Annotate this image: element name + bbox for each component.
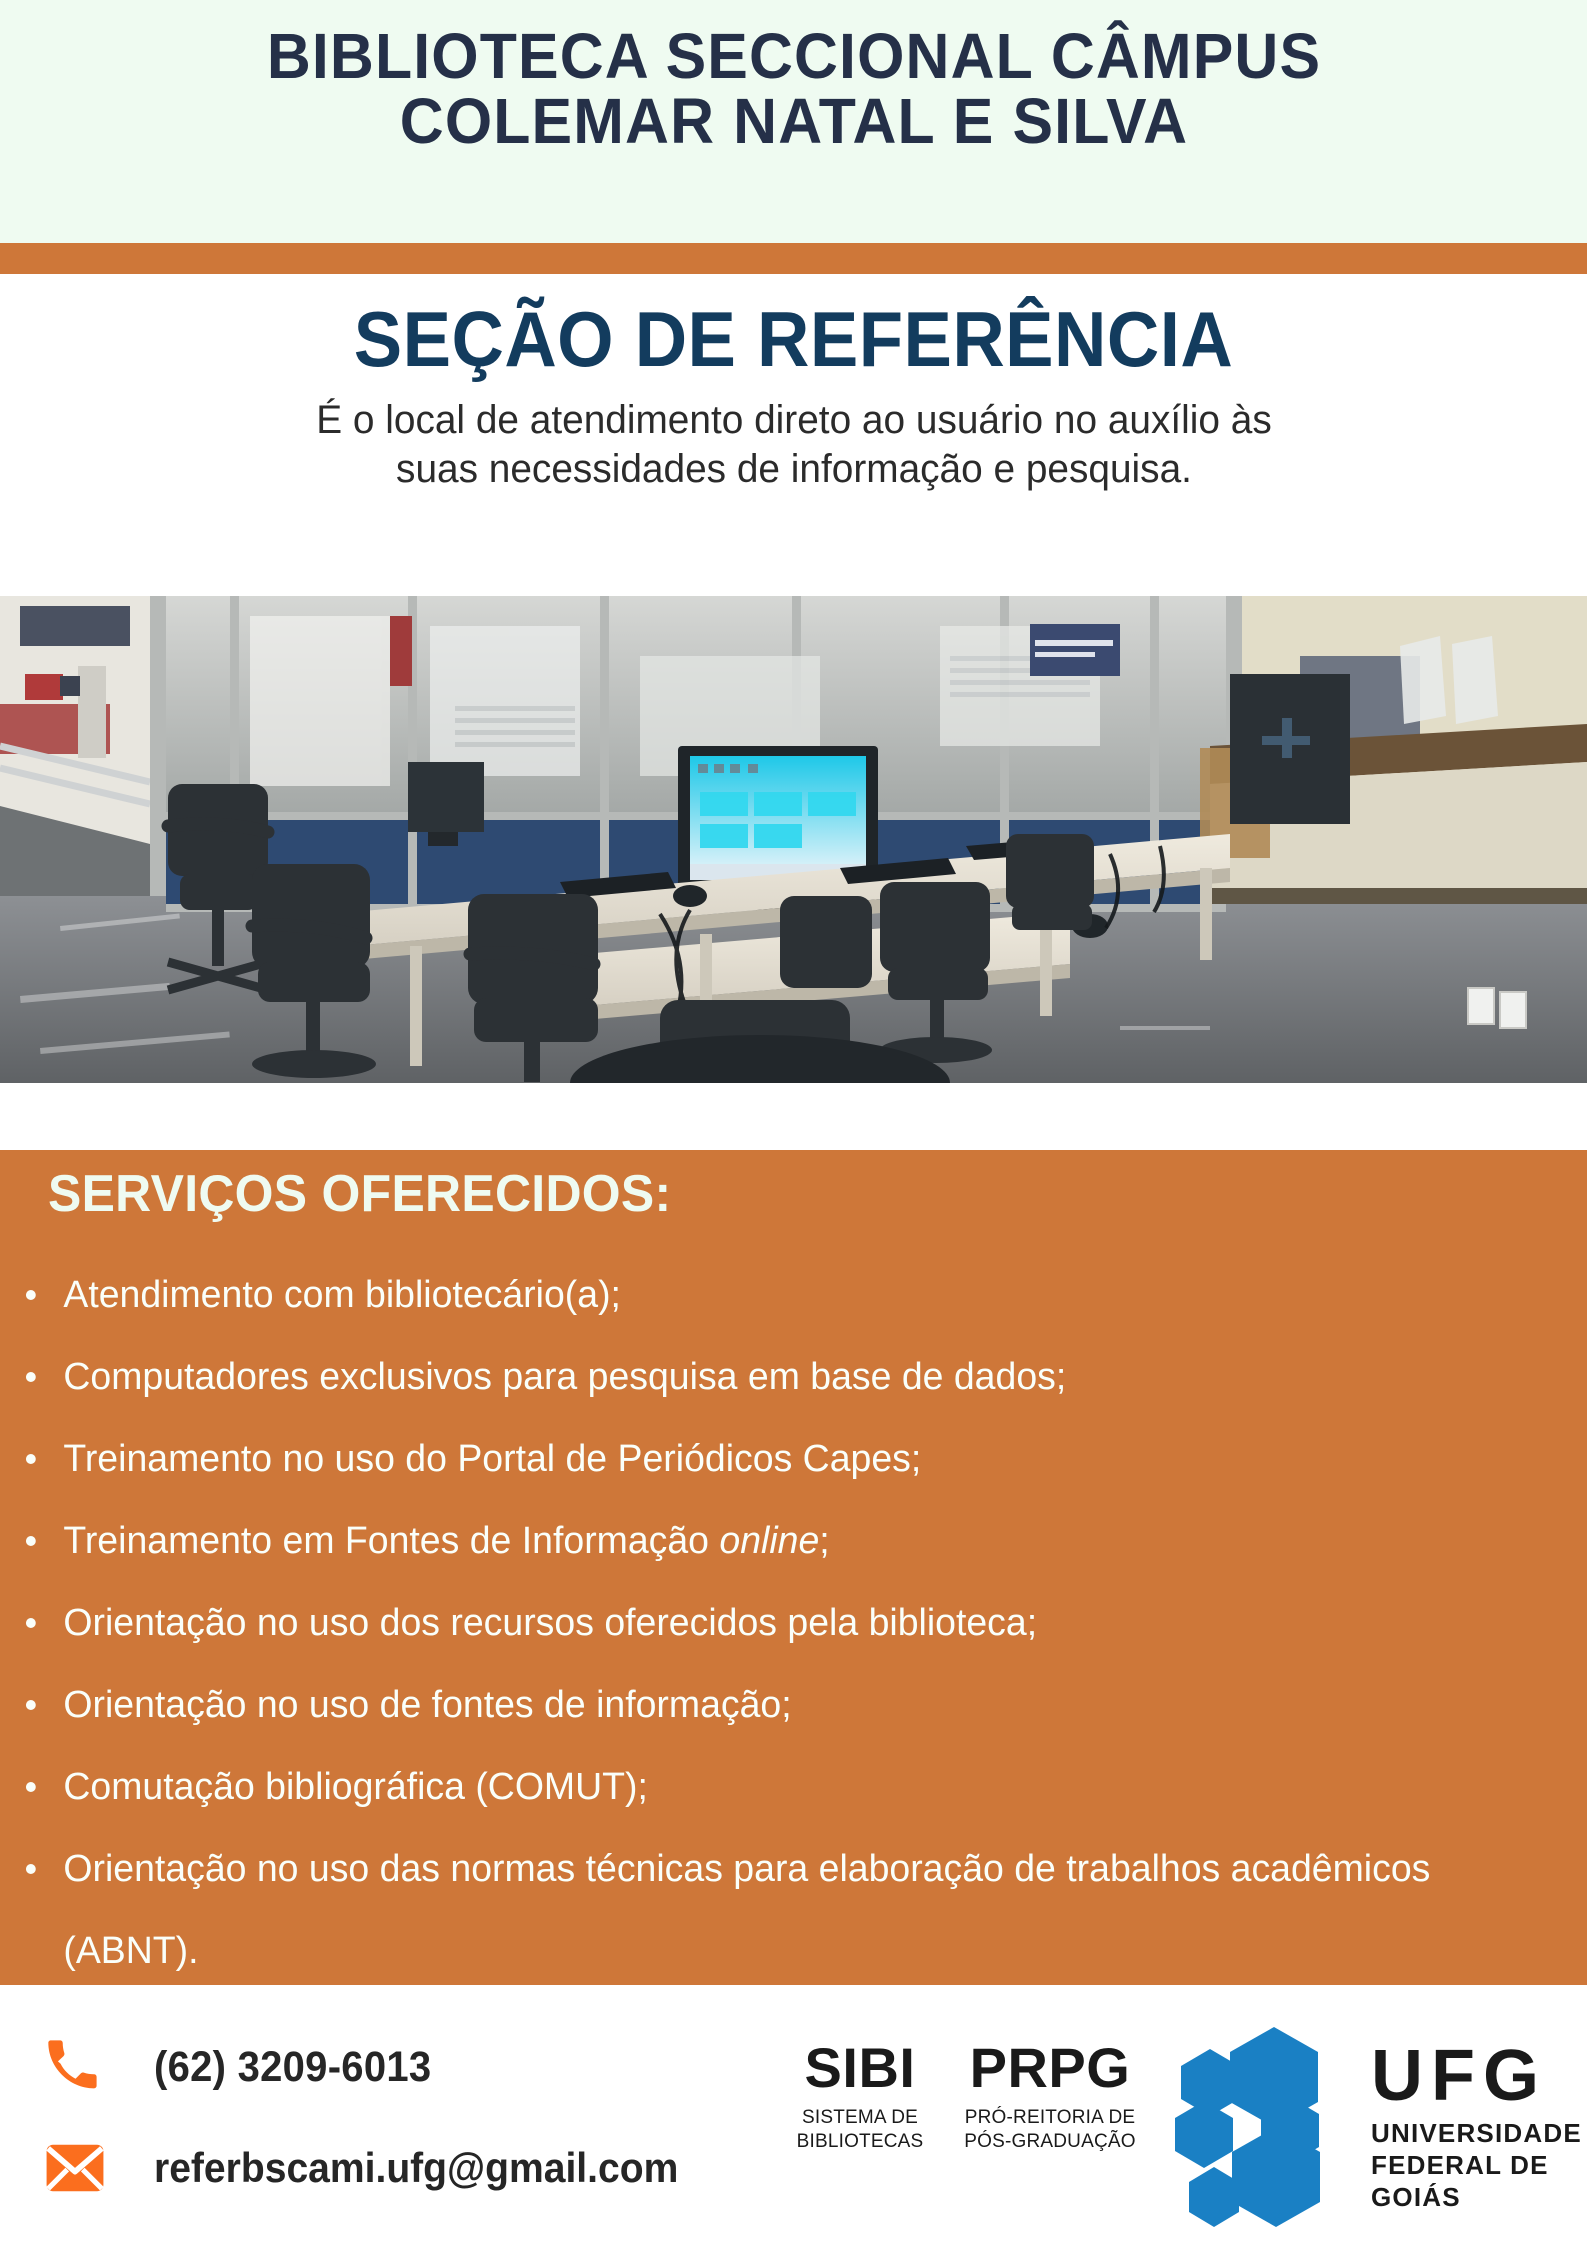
bullet-icon xyxy=(26,1864,36,1874)
list-item: Orientação no uso das normas técnicas pa… xyxy=(22,1828,1544,1992)
logo-sibi: SIBI SISTEMA DE BIBLIOTECAS xyxy=(775,2040,945,2154)
logo-ufg-wordmark: UFG UNIVERSIDADE FEDERAL DE GOIÁS xyxy=(1371,2042,1582,2214)
bullet-icon xyxy=(26,1454,36,1464)
services-heading: SERVIÇOS OFERECIDOS: xyxy=(48,1164,671,1224)
services-list: Atendimento com bibliotecário(a); Comput… xyxy=(22,1254,1567,1992)
bullet-icon xyxy=(26,1618,36,1628)
phone-icon xyxy=(38,2027,112,2107)
list-item-emphasis: online xyxy=(719,1520,819,1562)
list-item-label: Atendimento com bibliotecário(a); xyxy=(63,1274,621,1316)
list-item-label: Comutação bibliográfica (COMUT); xyxy=(63,1766,648,1808)
list-item-label: Treinamento em Fontes de Informação xyxy=(63,1520,719,1562)
logo-prpg-mark: PRPG xyxy=(940,2040,1160,2096)
list-item-tail: ; xyxy=(819,1520,829,1562)
phone-number: (62) 3209-6013 xyxy=(154,2043,431,2092)
logo-ufg-mark: UFG xyxy=(1371,2042,1582,2110)
list-item-label: Computadores exclusivos para pesquisa em… xyxy=(63,1356,1066,1398)
list-item-label: Orientação no uso das normas técnicas pa… xyxy=(63,1848,1430,1972)
list-item: Orientação no uso dos recursos oferecido… xyxy=(22,1582,1544,1664)
section-intro: SEÇÃO DE REFERÊNCIA É o local de atendim… xyxy=(0,274,1587,596)
poster-header: BIBLIOTECA SECCIONAL CÂMPUS COLEMAR NATA… xyxy=(0,0,1587,243)
services-section: SERVIÇOS OFERECIDOS: Atendimento com bib… xyxy=(0,1150,1587,1985)
accent-divider-top xyxy=(0,243,1587,274)
bullet-icon xyxy=(26,1372,36,1382)
logo-sibi-subtitle: SISTEMA DE BIBLIOTECAS xyxy=(775,2106,945,2154)
list-item-label: Orientação no uso de fontes de informaçã… xyxy=(63,1684,791,1726)
list-item: Treinamento em Fontes de Informação onli… xyxy=(22,1500,1544,1582)
logo-prpg-subtitle: PRÓ-REITORIA DE PÓS-GRADUAÇÃO xyxy=(940,2106,1160,2154)
bullet-icon xyxy=(26,1290,36,1300)
logo-ufg: UFG UNIVERSIDADE FEDERAL DE GOIÁS xyxy=(1170,2020,1570,2235)
logo-sibi-mark: SIBI xyxy=(775,2040,945,2096)
hexagon-cluster-icon xyxy=(1170,2025,1355,2230)
bullet-icon xyxy=(26,1782,36,1792)
list-item: Comutação bibliográfica (COMUT); xyxy=(22,1746,1544,1828)
list-item: Orientação no uso de fontes de informaçã… xyxy=(22,1664,1544,1746)
list-item-label: Treinamento no uso do Portal de Periódic… xyxy=(63,1438,921,1480)
list-item-label: Orientação no uso dos recursos oferecido… xyxy=(63,1602,1037,1644)
logo-ufg-subtitle: UNIVERSIDADE FEDERAL DE GOIÁS xyxy=(1371,2118,1582,2213)
contact-phone[interactable]: (62) 3209-6013 xyxy=(38,2027,452,2107)
page-title: BIBLIOTECA SECCIONAL CÂMPUS COLEMAR NATA… xyxy=(110,24,1478,155)
logo-prpg: PRPG PRÓ-REITORIA DE PÓS-GRADUAÇÃO xyxy=(940,2040,1160,2154)
list-item: Computadores exclusivos para pesquisa em… xyxy=(22,1336,1544,1418)
email-address: referbscami.ufg@gmail.com xyxy=(154,2144,678,2192)
bullet-icon xyxy=(26,1700,36,1710)
contact-email[interactable]: referbscami.ufg@gmail.com xyxy=(38,2128,718,2208)
list-item: Treinamento no uso do Portal de Periódic… xyxy=(22,1418,1544,1500)
section-subtitle: É o local de atendimento direto ao usuár… xyxy=(270,396,1318,494)
list-item: Atendimento com bibliotecário(a); xyxy=(22,1254,1544,1336)
reference-room-photo: hp xyxy=(0,596,1587,1083)
envelope-icon xyxy=(38,2128,112,2208)
section-title: SEÇÃO DE REFERÊNCIA xyxy=(56,300,1532,378)
bullet-icon xyxy=(26,1536,36,1546)
